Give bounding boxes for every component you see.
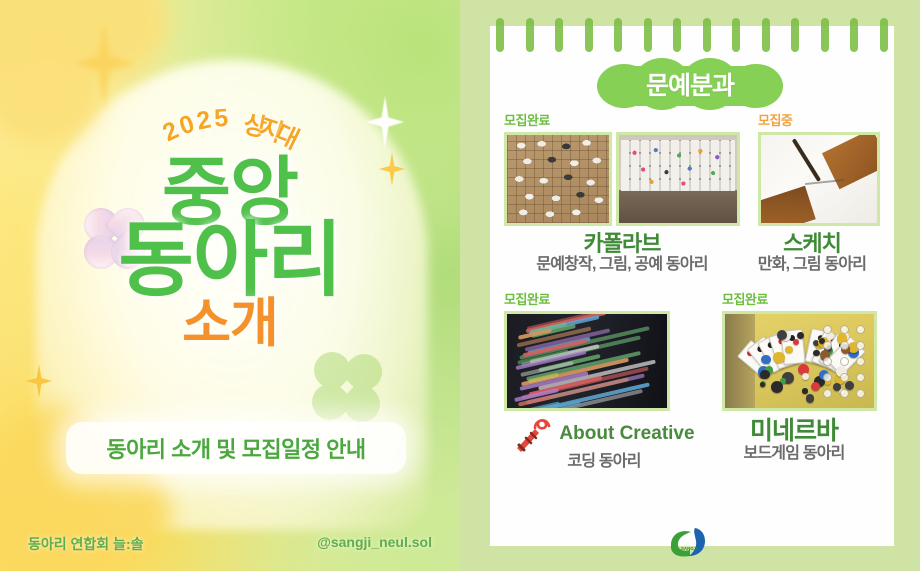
spiral-ring (555, 18, 563, 52)
club-description: 보드게임 동아리 (704, 445, 884, 463)
club-card-about-creative[interactable]: 모집완료 (504, 289, 704, 411)
board-slot (840, 341, 849, 350)
board-slot (856, 373, 865, 382)
spiral-ring (850, 18, 858, 52)
board-slot (823, 373, 832, 382)
corkboard-photo (504, 132, 612, 226)
spiral-ring (880, 18, 888, 52)
club-photos (504, 311, 704, 411)
game-piece (761, 355, 770, 364)
page-title: 중앙 동아리 소개 (0, 158, 460, 349)
board-slot (856, 357, 865, 366)
game-piece (806, 394, 815, 403)
spiral-ring (732, 18, 740, 52)
spiral-ring (614, 18, 622, 52)
left-slide: 2025 상지대 중앙 동아리 소개 동아리 소개 및 모집일정 안내 동아리 … (0, 0, 460, 571)
footer-handle: @sangji_neul.sol (317, 534, 432, 550)
club-row-2: 모집완료 모집완료 (504, 289, 884, 411)
game-piece (813, 350, 819, 356)
game-piece (802, 373, 809, 380)
club-grid: 모집완료 모집중 (504, 110, 884, 471)
status-badge: 모집완료 (504, 110, 740, 129)
game-piece (785, 346, 792, 353)
club-photos (504, 132, 740, 226)
club-photos (722, 311, 884, 411)
game-piece (811, 382, 820, 391)
footer-organization: 동아리 연합회 늘:솔 (28, 534, 143, 554)
spiral-ring (526, 18, 534, 52)
club-row-2-labels: About Creative 코딩 동아리 미네르바 보드게임 동아리 (504, 414, 884, 471)
sangji-university-logo: SANGJI (665, 525, 715, 559)
status-badge: 모집완료 (504, 289, 704, 308)
club-photos (758, 132, 884, 226)
crayon-heart-icon (513, 414, 555, 452)
section-badge-label: 문예분과 (597, 58, 783, 110)
club-row-1-labels: 카폴라브 문예창작, 그림, 공예 동아리 스케치 만화, 그림 동아리 (504, 228, 884, 275)
game-piece (833, 383, 841, 391)
poster-canvas: 2025 상지대 중앙 동아리 소개 동아리 소개 및 모집일정 안내 동아리 … (0, 0, 920, 571)
title-line-3: 소개 (0, 300, 460, 349)
spiral-ring (585, 18, 593, 52)
spiral-ring (762, 18, 770, 52)
board-slot (840, 325, 849, 334)
eyebrow-char: 5 (213, 104, 229, 134)
code-editor-photo (504, 311, 670, 411)
game-piece (793, 339, 799, 345)
gallery-wall-photo (616, 132, 740, 226)
spiral-ring (644, 18, 652, 52)
club-name: 미네르바 (704, 418, 884, 446)
board-slot (856, 325, 865, 334)
club-description: 문예창작, 그림, 공예 동아리 (504, 256, 740, 274)
status-badge: 모집완료 (722, 289, 884, 308)
title-line-2: 동아리 (0, 223, 460, 298)
spiral-ring (673, 18, 681, 52)
club-name: 스케치 (740, 232, 884, 256)
spiral-ring (703, 18, 711, 52)
notebook-spiral-binding (496, 18, 888, 54)
board-slot (840, 357, 849, 366)
board-slot (823, 389, 832, 398)
boardgame-photo (722, 311, 877, 411)
spiral-ring (496, 18, 504, 52)
game-piece (771, 381, 783, 393)
spiral-ring (791, 18, 799, 52)
section-badge: 문예분과 (597, 58, 783, 110)
status-badge: 모집중 (758, 110, 884, 129)
club-name: About Creative (559, 424, 694, 445)
board-slot (840, 389, 849, 398)
club-description: 만화, 그림 동아리 (740, 256, 884, 274)
club-card-sketch[interactable]: 모집중 (740, 110, 884, 226)
game-piece (797, 332, 804, 339)
svg-text:SANGJI: SANGJI (681, 546, 697, 551)
subtitle-pill: 동아리 소개 및 모집일정 안내 (66, 422, 406, 474)
eyebrow-char: 2 (194, 105, 213, 136)
spiral-ring (821, 18, 829, 52)
right-slide: 문예분과 모집완료 모집중 (460, 0, 920, 571)
club-card-minerva[interactable]: 모집완료 (704, 289, 884, 411)
club-name: 카폴라브 (504, 232, 740, 256)
game-piece (760, 370, 769, 379)
board-slot (856, 341, 865, 350)
club-row-1: 모집완료 모집중 (504, 110, 884, 226)
board-slot (856, 389, 865, 398)
board-slot (840, 373, 849, 382)
sketch-paper-photo (758, 132, 880, 226)
club-description: 코딩 동아리 (504, 453, 704, 471)
club-card-karpolove[interactable]: 모집완료 (504, 110, 740, 226)
game-piece (802, 388, 807, 393)
